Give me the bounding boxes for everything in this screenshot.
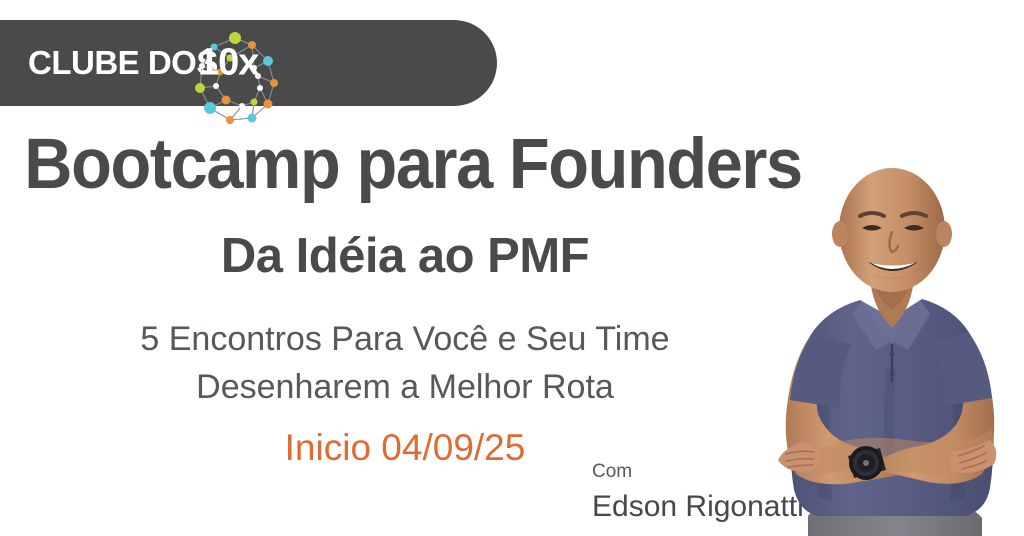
description-line-2: Desenharem a Melhor Rota (0, 368, 810, 407)
page-title: Bootcamp para Founders (24, 124, 785, 205)
promo-banner: CLUBE DOS (0, 0, 1024, 536)
page-subtitle: Da Idéia ao PMF (0, 228, 810, 284)
brand-logo-pill: CLUBE DOS (0, 20, 497, 106)
description-line-1: 5 Encontros Para Você e Seu Time (0, 320, 810, 359)
speaker-prefix: Com (592, 461, 632, 483)
speaker-portrait (756, 168, 1024, 536)
start-date-label: Inicio 04/09/25 (0, 427, 810, 469)
brand-multiplier: 10x (198, 42, 258, 85)
